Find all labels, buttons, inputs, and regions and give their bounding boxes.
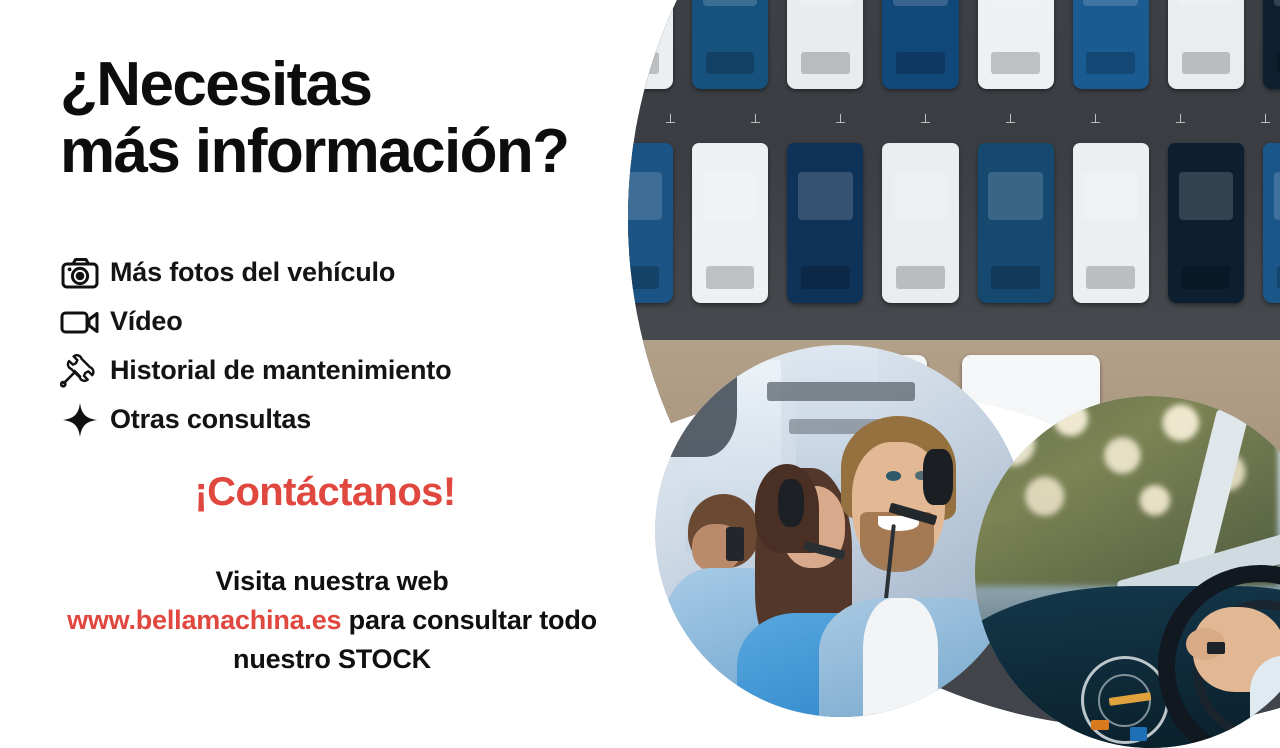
list-item: Otras consultas — [50, 395, 610, 444]
website-block: Visita nuestra web www.bellamachina.es p… — [0, 562, 664, 679]
benefits-list: Más fotos del vehículo Vídeo — [50, 248, 610, 444]
list-item-label: Historial de mantenimiento — [110, 357, 451, 384]
website-line-3: nuestro STOCK — [0, 640, 664, 679]
video-icon — [50, 308, 110, 336]
contact-cta-label: ¡Contáctanos! — [194, 470, 455, 514]
website-line-1: Visita nuestra web — [0, 562, 664, 601]
list-item-label: Otras consultas — [110, 406, 311, 433]
website-line-2-rest: para consultar todo — [341, 605, 597, 635]
list-item-label: Más fotos del vehículo — [110, 259, 395, 286]
list-item: Más fotos del vehículo — [50, 248, 610, 297]
page-title: ¿Necesitas más información? — [60, 52, 568, 186]
camera-icon — [50, 257, 110, 289]
wrench-hand-icon — [50, 352, 110, 390]
contact-cta[interactable]: ¡Contáctanos! — [0, 470, 650, 515]
list-item: Historial de mantenimiento — [50, 346, 610, 395]
poster-canvas: ++++++++++++ ⊥⊥⊥⊥⊥⊥⊥⊥⊥⊥⊥⊥ — [0, 0, 1280, 720]
call-center-team-photo — [655, 345, 1027, 717]
website-line-2: www.bellamachina.es para consultar todo — [0, 601, 664, 640]
website-url-link[interactable]: www.bellamachina.es — [67, 605, 341, 635]
driver-steering-wheel-photo — [975, 396, 1280, 748]
list-item-label: Vídeo — [110, 308, 183, 335]
list-item: Vídeo — [50, 297, 610, 346]
sparkle-icon — [50, 403, 110, 437]
